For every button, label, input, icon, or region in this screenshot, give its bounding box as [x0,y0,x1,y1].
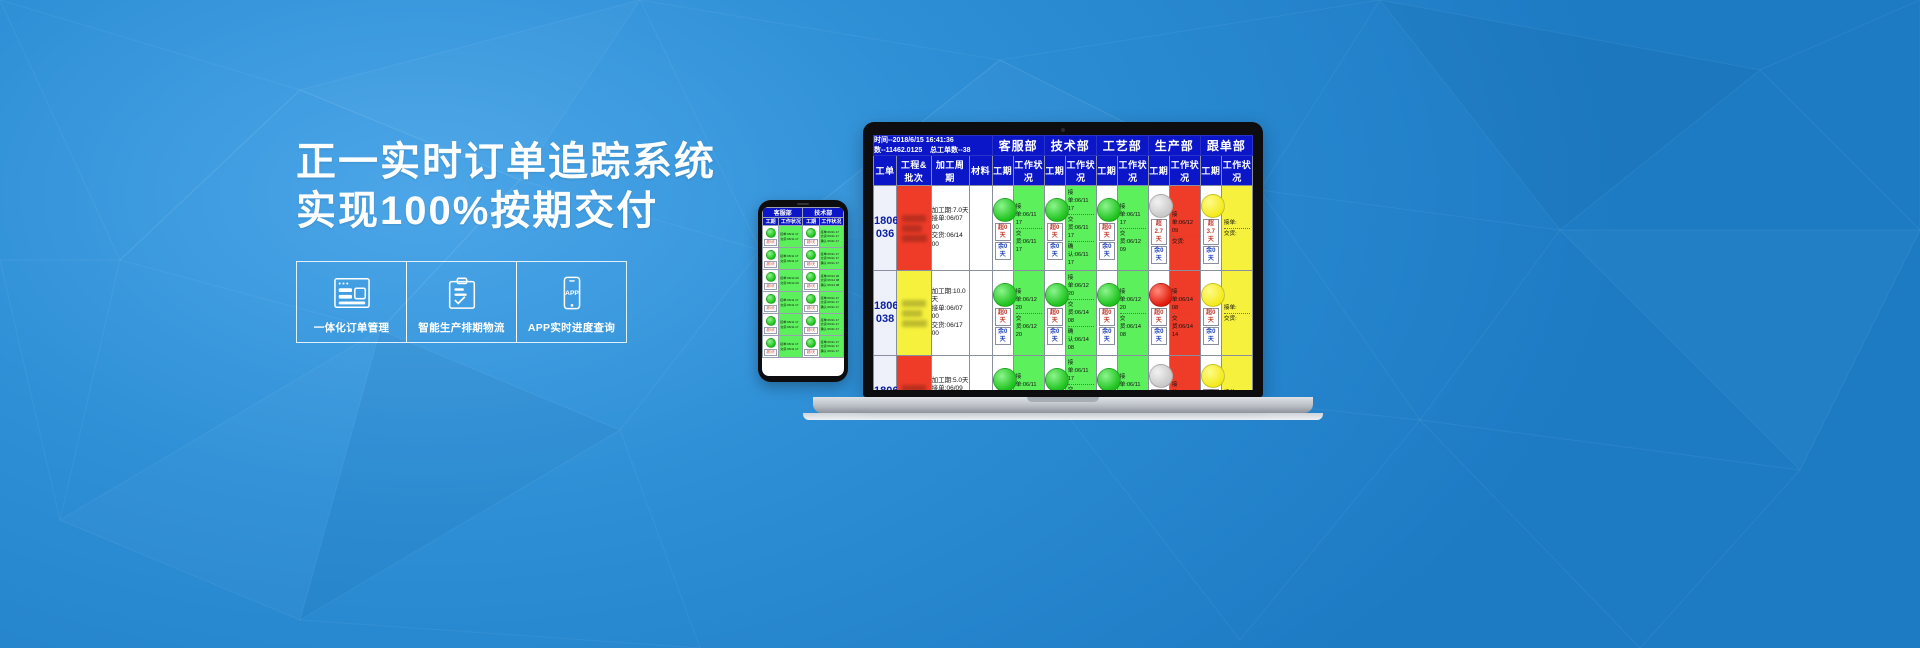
erp-work-status-3-5[interactable]: 接单:交货: [1221,356,1252,391]
left-days-badge: 余0天 [995,327,1011,345]
phone-erp-table[interactable]: 客服部技术部工期工作状况工期工作状况超0天接单:06/11 17交货:06/11… [762,207,844,358]
status-date-3: 确认:06/14 08 [821,283,842,288]
phone-duration-5-1[interactable]: 超0天 [763,314,779,336]
erp-duration-3-3[interactable]: 超0天余0天 [1096,356,1117,391]
status-date-2: 交货:06/14 08 [1068,300,1094,327]
over-days-badge: 超0天 [804,349,817,356]
over-days-badge: 超0天 [1099,223,1115,241]
over-days-badge: 超0天 [804,305,817,312]
left-days-badge: 余0天 [1203,327,1219,345]
status-light-green [1097,368,1121,390]
status-light-green [806,272,816,282]
list-item[interactable]: 超0天接单:06/11 17交货:06/11 17超0天接单:06/11 17交… [763,336,844,358]
over-days-badge: 超0天 [1203,308,1219,326]
clipboard-icon [441,275,483,311]
phone-status-3-1[interactable]: 接单:06/12 20交货:06/12 20 [779,270,803,292]
erp-duration-3-5[interactable]: 超3.7天余0天 [1200,356,1221,391]
wo-line-1: 1806 [874,385,896,390]
status-date-3: 确认:06/11 17 [1068,242,1094,268]
phone-status-1-1[interactable]: 接单:06/11 17交货:06/11 17 [779,226,803,248]
status-date-3: 确认:06/11 17 [821,349,842,354]
status-light-yellow [1201,364,1225,388]
over-days-badge: 超0天 [764,239,777,246]
over-days-badge: 超0天 [764,283,777,290]
erp-project-batch-3 [897,356,932,391]
left-days-badge: 余0天 [1047,242,1063,260]
erp-subcol-3-2[interactable]: 工作状况 [1117,156,1148,186]
over-days-badge: 超3.7天 [1203,219,1219,245]
status-date-1: 接单:06/12 20 [1068,273,1094,300]
cycle-line-3: 交货:06/14 00 [932,232,969,249]
left-days-badge: 余0天 [995,242,1011,260]
erp-work-status-3-2[interactable]: 接单:06/11 17交货:06/11 17确认:06/11 17 [1065,356,1096,391]
over-days-badge: 超0天 [1151,308,1167,326]
phone-dept-header-row: 客服部技术部 [763,208,844,218]
over-days-badge: 超0天 [764,305,777,312]
status-light-green [806,316,816,326]
erp-work-status-3-4[interactable]: 接单:06/12 09交货: [1169,356,1200,391]
erp-duration-1-2[interactable]: 超0天余0天 [1044,186,1065,271]
status-light-green [993,283,1017,307]
laptop-mockup: 时间--2018/6/15 16:41:36数--11462.0125 总工单数… [863,122,1323,420]
erp-subcol-2-1[interactable]: 工期 [1044,156,1065,186]
status-light-green [1097,283,1121,307]
erp-duration-2-3[interactable]: 超0天余0天 [1096,271,1117,356]
over-days-badge: 超3.7天 [1203,389,1219,390]
cycle-line-1: 加工期:5.0天 [932,377,969,386]
status-date-1: 接单: [1224,218,1250,229]
phone-subcol-2-1[interactable]: 工期 [803,218,819,226]
erp-subcol-1-2[interactable]: 工作状况 [1013,156,1044,186]
cycle-line-3: 交货:06/17 00 [932,322,969,339]
phone-speaker [797,203,809,205]
status-date-2: 交货:06/11 17 [780,237,801,242]
webcam-icon [1061,128,1065,132]
phone-duration-4-2[interactable]: 超0天 [803,292,819,314]
over-days-badge: 超0天 [1047,308,1063,326]
status-light-grey [1149,194,1173,218]
cycle-line-2: 接单:06/07 00 [932,305,969,322]
status-light-green [806,294,816,304]
status-date-1: 接单:06/14 08 [1172,287,1198,314]
table-row[interactable]: 1806039加工期:5.0天接单:06/09 00交货:06/14 00超0天… [874,356,1253,391]
erp-duration-3-1[interactable]: 超0天余0天 [992,356,1013,391]
erp-work-order-2: 1806038 [874,271,897,356]
erp-subcol-3-1[interactable]: 工期 [1096,156,1117,186]
status-light-green [766,316,776,326]
phone-status-5-1[interactable]: 接单:06/11 17交货:06/11 17 [779,314,803,336]
status-light-green [806,228,816,238]
headline-block: 正一实时订单追踪系统 实现100%按期交付 [296,138,716,236]
erp-department-header-5: 跟单部 [1200,136,1252,156]
erp-duration-3-2[interactable]: 超0天余0天 [1044,356,1065,391]
erp-material-3 [969,356,992,391]
status-light-green [766,250,776,260]
headline-line-1: 正一实时订单追踪系统 [296,138,716,187]
phone-duration-2-2[interactable]: 超0天 [803,248,819,270]
phone-subcol-2-2[interactable]: 工作状况 [819,218,843,226]
status-light-green [806,338,816,348]
phone-duration-1-1[interactable]: 超0天 [763,226,779,248]
erp-work-status-3-1[interactable]: 接单:06/11 17交货:06/11 17 [1013,356,1044,391]
list-item[interactable]: 超0天接单:06/11 17交货:06/11 17超0天接单:06/11 17交… [763,248,844,270]
erp-work-status-1-3[interactable]: 接单:06/11 17交货:06/12 09 [1117,186,1148,271]
status-date-3: 确认:06/11 17 [821,239,842,244]
phone-duration-1-2[interactable]: 超0天 [803,226,819,248]
erp-subcol-1-1[interactable]: 工期 [992,156,1013,186]
erp-work-status-2-1[interactable]: 接单:06/12 20交货:06/12 20 [1013,271,1044,356]
status-light-yellow [1201,283,1225,307]
over-days-badge: 超0天 [764,327,777,334]
feature-card-smart-scheduling[interactable]: 智能生产排期物流 [406,261,517,343]
erp-duration-2-4[interactable]: 超0天余0天 [1148,271,1169,356]
erp-duration-2-2[interactable]: 超0天余0天 [1044,271,1065,356]
left-days-badge: 余0天 [1099,327,1115,345]
list-item[interactable]: 超0天接单:06/12 20交货:06/12 20超0天接单:06/12 20交… [763,270,844,292]
laptop-foot [803,413,1323,420]
phone-screen[interactable]: 客服部技术部工期工作状况工期工作状况超0天接单:06/11 17交货:06/11… [762,207,844,376]
status-light-green [1045,368,1069,390]
erp-subcol-2-2[interactable]: 工作状况 [1065,156,1096,186]
status-date-1: 接单:06/11 17 [1016,202,1042,229]
erp-duration-3-4[interactable]: 超2.7天余0天 [1148,356,1169,391]
status-date-1: 接单:06/11 17 [780,342,801,347]
status-date-1: 接单:06/11 17 [1068,188,1094,215]
status-date-1: 接单:06/12 20 [1120,287,1146,314]
status-light-green [766,338,776,348]
over-days-badge: 超0天 [804,239,817,246]
over-days-badge: 超0天 [995,223,1011,241]
phone-status-6-2[interactable]: 接单:06/11 17交货:06/11 17确认:06/11 17 [819,336,843,358]
erp-header-meta-row: 时间--2018/6/15 16:41:36数--11462.0125 总工单数… [874,136,1253,156]
status-date-1: 接单:06/11 17 [1120,202,1146,229]
over-days-badge: 超2.7天 [1151,389,1167,390]
erp-work-status-2-3[interactable]: 接单:06/12 20交货:06/14 08 [1117,271,1148,356]
erp-cycle-3: 加工期:5.0天接单:06/09 00交货:06/14 00 [931,356,969,391]
erp-duration-2-1[interactable]: 超0天余0天 [992,271,1013,356]
over-days-badge: 超0天 [804,327,817,334]
phone-status-3-2[interactable]: 接单:06/12 20交货:06/14 08确认:06/14 08 [819,270,843,292]
erp-col-header-1[interactable]: 工单 [874,156,897,186]
erp-work-status-2-5[interactable]: 接单:交货: [1221,271,1252,356]
feature-card-list: 一体化订单管理 智能生产排期物流 APP APP实时进度查询 [296,261,626,343]
phone-duration-3-2[interactable]: 超0天 [803,270,819,292]
erp-work-status-2-4[interactable]: 接单:06/14 08交货:06/14 14 [1169,271,1200,356]
status-date-2: 交货:06/12 09 [1120,229,1146,255]
erp-subcol-4-2[interactable]: 工作状况 [1169,156,1200,186]
left-days-badge: 余0天 [1151,327,1167,345]
left-days-badge: 余0天 [1151,246,1167,264]
list-item[interactable]: 超0天接单:06/11 17交货:06/11 17超0天接单:06/11 17交… [763,226,844,248]
window-layout-icon [331,275,373,311]
phone-status-6-1[interactable]: 接单:06/11 17交货:06/11 17 [779,336,803,358]
erp-col-header-2[interactable]: 工程&批次 [897,156,932,186]
status-date-1: 接单:06/12 09 [1172,210,1198,237]
over-days-badge: 超0天 [804,283,817,290]
cycle-line-2: 接单:06/09 00 [932,385,969,390]
status-date-2: 交货:06/11 17 [780,325,801,330]
over-days-badge: 超0天 [764,349,777,356]
status-date-2: 交货:06/11 17 [1016,229,1042,255]
erp-meta-cell: 时间--2018/6/15 16:41:36数--11462.0125 总工单数… [874,136,993,156]
erp-duration-2-5[interactable]: 超0天余0天 [1200,271,1221,356]
status-date-1: 接单:06/11 17 [1016,372,1042,391]
status-date-1: 接单:06/11 17 [1120,372,1146,391]
status-date-2: 交货:06/14 08 [1120,314,1146,340]
feature-label-app-tracking: APP实时进度查询 [528,320,615,335]
erp-order-tracking-table[interactable]: 时间--2018/6/15 16:41:36数--11462.0125 总工单数… [873,135,1253,390]
left-days-badge: 余0天 [1203,246,1219,264]
status-light-green [766,228,776,238]
list-item[interactable]: 超0天接单:06/11 17交货:06/11 17超0天接单:06/11 17交… [763,314,844,336]
phone-body: 客服部技术部工期工作状况工期工作状况超0天接单:06/11 17交货:06/11… [758,200,848,382]
status-date-3: 确认:06/14 08 [1068,327,1094,353]
erp-total-orders: 总工单数--38 [930,147,970,154]
erp-material-1 [969,186,992,271]
headline-line-2: 实现100%按期交付 [296,187,716,236]
list-item[interactable]: 超0天接单:06/11 17交货:06/11 17超0天接单:06/11 17交… [763,292,844,314]
status-light-green [766,294,776,304]
erp-material-2 [969,271,992,356]
status-light-green [993,198,1017,222]
status-light-green [993,368,1017,390]
status-date-2: 交货: [1224,229,1250,239]
erp-duration-1-4[interactable]: 超2.7天余0天 [1148,186,1169,271]
erp-work-status-1-2[interactable]: 接单:06/11 17交货:06/11 17确认:06/11 17 [1065,186,1096,271]
phone-status-4-1[interactable]: 接单:06/11 17交货:06/11 17 [779,292,803,314]
status-light-yellow [1201,194,1225,218]
erp-subcol-4-1[interactable]: 工期 [1148,156,1169,186]
status-date-1: 接单:06/12 09 [1172,380,1198,391]
erp-work-order-3: 1806039 [874,356,897,391]
left-days-badge: 余0天 [1099,242,1115,260]
erp-work-status-1-1[interactable]: 接单:06/11 17交货:06/11 17 [1013,186,1044,271]
over-days-badge: 超0天 [1099,308,1115,326]
status-date-2: 交货:06/14 14 [1172,314,1198,340]
smartphone-mockup: 客服部技术部工期工作状况工期工作状况超0天接单:06/11 17交货:06/11… [758,200,848,382]
phone-duration-5-2[interactable]: 超0天 [803,314,819,336]
erp-department-header-2: 技术部 [1044,136,1096,156]
wo-line-1: 1806 [874,300,896,313]
laptop-trackpad-notch [1027,397,1099,402]
phone-duration-2-1[interactable]: 超0天 [763,248,779,270]
status-date-1: 接单:06/11 17 [1068,358,1094,385]
status-date-1: 接单:06/11 17 [780,298,801,303]
svg-text:APP: APP [565,290,579,297]
status-date-2: 交货:06/11 17 [780,259,801,264]
status-date-2: 交货:06/12 20 [780,281,801,286]
erp-department-header-4: 生产部 [1148,136,1200,156]
status-date-2: 交货:06/11 17 [1068,385,1094,390]
status-light-green [806,250,816,260]
erp-duration-1-1[interactable]: 超0天余0天 [992,186,1013,271]
status-date-3: 确认:06/11 17 [821,261,842,266]
feature-card-order-management[interactable]: 一体化订单管理 [296,261,407,343]
status-date-1: 接单:06/11 17 [780,232,801,237]
status-light-green [766,272,776,282]
feature-label-smart-scheduling: 智能生产排期物流 [418,320,504,335]
laptop-screen[interactable]: 时间--2018/6/15 16:41:36数--11462.0125 总工单数… [873,135,1253,390]
status-date-2: 交货:06/11 17 [1068,215,1094,242]
laptop-lid: 时间--2018/6/15 16:41:36数--11462.0125 总工单数… [863,122,1263,397]
erp-duration-1-5[interactable]: 超3.7天余0天 [1200,186,1221,271]
status-date-1: 接单:06/12 20 [780,276,801,281]
status-date-1: 接单: [1224,388,1250,391]
erp-column-header-row: 工单工程&批次加工周期材料工期工作状况工期工作状况工期工作状况工期工作状况工期工… [874,156,1253,186]
status-light-green [1045,198,1069,222]
status-date-2: 交货:06/11 17 [780,303,801,308]
phone-status-4-2[interactable]: 接单:06/11 17交货:06/11 17确认:06/11 17 [819,292,843,314]
cycle-line-2: 接单:06/07 00 [932,215,969,232]
erp-cycle-2: 加工期:10.0天接单:06/07 00交货:06/17 00 [931,271,969,356]
left-days-badge: 余0天 [1047,327,1063,345]
erp-count-label: 数--11462.0125 总工单数--38 [874,146,992,156]
phone-duration-4-1[interactable]: 超0天 [763,292,779,314]
over-days-badge: 超0天 [995,308,1011,326]
status-date-1: 接单: [1224,303,1250,314]
phone-department-header-2: 技术部 [803,208,844,218]
erp-time-label: 时间--2018/6/15 16:41:36 [874,136,992,146]
status-date-2: 交货:06/11 17 [780,347,801,352]
cycle-line-1: 加工期:7.0天 [932,207,969,216]
feature-card-app-tracking[interactable]: APP APP实时进度查询 [516,261,627,343]
erp-department-header-3: 工艺部 [1096,136,1148,156]
erp-col-header-3[interactable]: 加工周期 [931,156,969,186]
status-light-green [1097,198,1121,222]
erp-work-status-3-3[interactable]: 接单:06/11 17交货:06/12 09 [1117,356,1148,391]
phone-subcol-1-2[interactable]: 工作状况 [779,218,803,226]
erp-project-batch-1 [897,186,932,271]
phone-status-2-1[interactable]: 接单:06/11 17交货:06/11 17 [779,248,803,270]
status-date-2: 交货: [1224,314,1250,324]
phone-status-5-2[interactable]: 接单:06/11 17交货:06/11 17确认:06/11 17 [819,314,843,336]
status-light-grey [1149,364,1173,388]
status-date-1: 接单:06/12 20 [1016,287,1042,314]
erp-work-status-1-4[interactable]: 接单:06/12 09交货: [1169,186,1200,271]
wo-line-2: 036 [874,228,896,241]
status-date-2: 交货:06/12 20 [1016,314,1042,340]
status-date-1: 接单:06/11 17 [780,254,801,259]
phone-duration-6-2[interactable]: 超0天 [803,336,819,358]
phone-department-header-1: 客服部 [763,208,803,218]
erp-cycle-1: 加工期:7.0天接单:06/07 00交货:06/14 00 [931,186,969,271]
status-date-2: 交货: [1172,237,1198,247]
erp-work-order-1: 1806036 [874,186,897,271]
over-days-badge: 超0天 [764,261,777,268]
status-light-red [1149,283,1173,307]
over-days-badge: 超2.7天 [1151,219,1167,245]
table-row[interactable]: 1806038加工期:10.0天接单:06/07 00交货:06/17 00超0… [874,271,1253,356]
phone-status-1-2[interactable]: 接单:06/11 17交货:06/11 17确认:06/11 17 [819,226,843,248]
status-light-green [1045,283,1069,307]
wo-line-1: 1806 [874,215,896,228]
wo-line-2: 038 [874,313,896,326]
laptop-base [813,397,1313,413]
phone-subheader-row: 工期工作状况工期工作状况 [763,218,844,226]
status-date-1: 接单:06/11 17 [780,320,801,325]
phone-duration-3-1[interactable]: 超0天 [763,270,779,292]
phone-status-2-2[interactable]: 接单:06/11 17交货:06/11 17确认:06/11 17 [819,248,843,270]
erp-work-status-1-5[interactable]: 接单:交货: [1221,186,1252,271]
erp-duration-1-3[interactable]: 超0天余0天 [1096,186,1117,271]
cycle-line-1: 加工期:10.0天 [932,288,969,305]
over-days-badge: 超0天 [804,261,817,268]
table-row[interactable]: 1806036加工期:7.0天接单:06/07 00交货:06/14 00超0天… [874,186,1253,271]
erp-department-header-1: 客服部 [992,136,1044,156]
erp-subcol-5-2[interactable]: 工作状况 [1221,156,1252,186]
erp-subcol-5-1[interactable]: 工期 [1200,156,1221,186]
erp-project-batch-2 [897,271,932,356]
feature-label-order-management: 一体化订单管理 [314,320,390,335]
phone-subcol-1-1[interactable]: 工期 [763,218,779,226]
erp-col-header-4[interactable]: 材料 [969,156,992,186]
over-days-badge: 超0天 [1047,223,1063,241]
mobile-app-icon: APP [551,275,593,311]
status-date-3: 确认:06/11 17 [821,327,842,332]
erp-work-status-2-2[interactable]: 接单:06/12 20交货:06/14 08确认:06/14 08 [1065,271,1096,356]
status-date-3: 确认:06/11 17 [821,305,842,310]
phone-duration-6-1[interactable]: 超0天 [763,336,779,358]
